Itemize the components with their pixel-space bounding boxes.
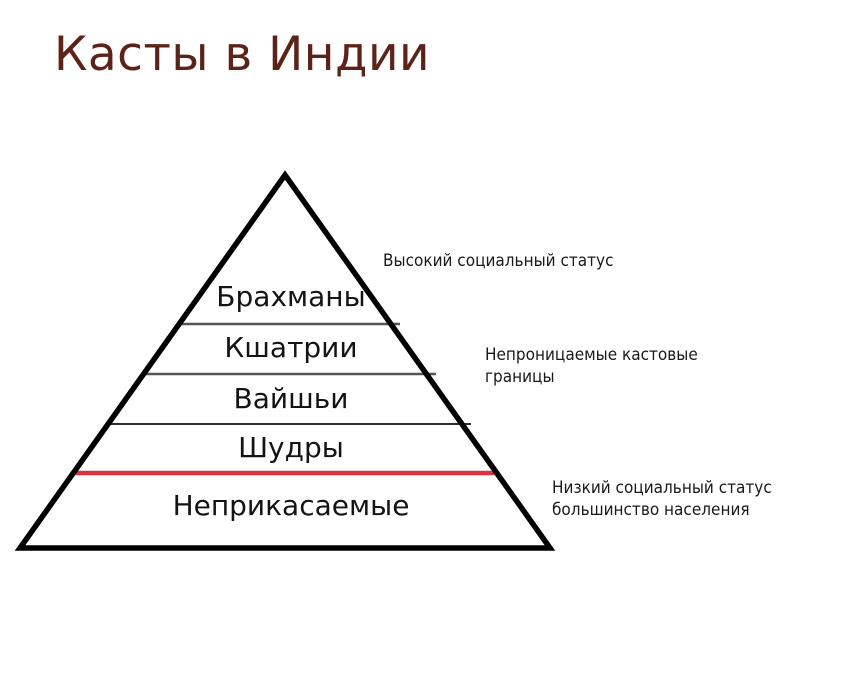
tier-label-shudras: Шудры bbox=[238, 434, 344, 462]
annotation-impermeable-caste-boundaries: Непроницаемые кастовые границы bbox=[485, 344, 755, 389]
tier-label-vaishyas: Вайшьи bbox=[234, 385, 349, 413]
tier-label-untouchables: Неприкасаемые bbox=[173, 492, 410, 520]
tier-label-kshatriyas: Кшатрии bbox=[224, 334, 357, 362]
slide-canvas: Касты в Индии Брахманы Кшатрии Вайшьи Шу… bbox=[0, 0, 845, 698]
annotation-high-social-status: Высокий социальный статус bbox=[383, 250, 614, 272]
tier-label-brahmins: Брахманы bbox=[216, 283, 365, 311]
annotation-low-social-status: Низкий социальный статус большинство нас… bbox=[552, 477, 842, 522]
